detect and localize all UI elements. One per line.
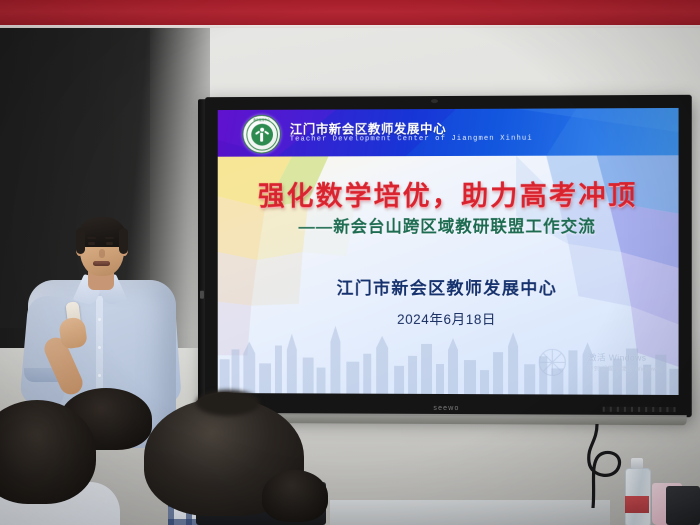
presenter-eye-left <box>88 242 95 245</box>
audience-member-left <box>0 400 130 525</box>
display-camera-icon <box>431 99 438 103</box>
presenter-nose <box>99 249 105 258</box>
interactive-display-panel[interactable]: 教师发展中心 江门市新会区教师发展中心 Teacher Development … <box>205 95 692 417</box>
audience-member-right <box>262 470 332 525</box>
presenter-eye-right <box>106 242 113 245</box>
bottle-cap <box>631 458 643 469</box>
bottle-label <box>625 496 649 513</box>
audience-left-head <box>0 400 96 504</box>
desk-surface <box>330 500 610 525</box>
water-bottle <box>625 458 649 525</box>
conference-room-photo: 教师发展中心 江门市新会区教师发展中心 Teacher Development … <box>0 0 700 525</box>
presenter-mouth <box>93 261 110 266</box>
display-side-button[interactable] <box>200 291 204 299</box>
dark-object-right <box>666 486 700 525</box>
display-bezel <box>205 95 692 417</box>
wall-red-stripe <box>0 0 700 26</box>
